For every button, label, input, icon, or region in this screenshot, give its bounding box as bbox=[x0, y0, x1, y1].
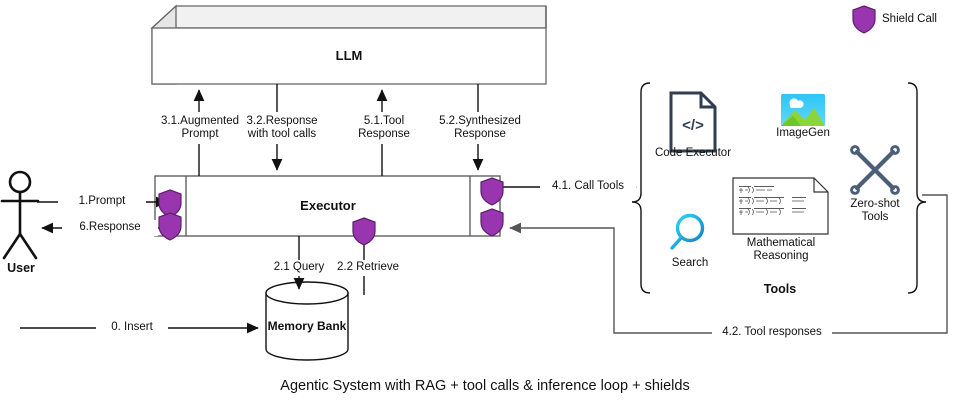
crossed-wrenches-icon bbox=[852, 147, 899, 194]
tools-group-label: Tools bbox=[730, 283, 830, 296]
image-picture-icon bbox=[781, 94, 825, 126]
diagram-caption: Agentic System with RAG + tool calls & i… bbox=[0, 378, 970, 394]
shield-icon-legend bbox=[853, 6, 875, 33]
legend-label: Shield Call bbox=[882, 13, 962, 26]
edge-label-response: 6.Response bbox=[62, 221, 158, 234]
user-label: User bbox=[0, 262, 47, 275]
shield-icon-executor-memory bbox=[353, 218, 375, 245]
edge-label-retrieve: 2.2 Retrieve bbox=[332, 261, 404, 274]
llm-node bbox=[152, 6, 546, 84]
llm-label: LLM bbox=[152, 49, 546, 62]
edge-label-tool-responses: 4.2. Tool responses bbox=[712, 326, 832, 339]
user-actor-icon bbox=[2, 172, 38, 258]
executor-label: Executor bbox=[186, 199, 470, 212]
edge-label-prompt: 1.Prompt bbox=[58, 195, 146, 208]
tool-label-zero-shot-tools: Zero-shotTools bbox=[840, 198, 910, 224]
edge-label-insert: 0. Insert bbox=[96, 321, 168, 334]
memory-bank-label: Memory Bank bbox=[255, 320, 359, 333]
edge-label-tool-response: 5.1.ToolResponse bbox=[344, 115, 424, 141]
tool-label-code-executor: Code Executor bbox=[643, 147, 743, 160]
code-document-icon: </> bbox=[671, 93, 715, 151]
diagram-canvas: </> bbox=[0, 0, 970, 411]
tool-label-mathematical-reasoning: MathematicalReasoning bbox=[733, 237, 829, 263]
edge-label-response-with-tool-calls: 3.2.Responsewith tool calls bbox=[230, 115, 334, 141]
svg-text:</>: </> bbox=[682, 117, 704, 134]
edge-label-synthesized-response: 5.2.SynthesizedResponse bbox=[426, 115, 534, 141]
magnifier-icon bbox=[672, 216, 703, 249]
math-document-icon bbox=[733, 178, 828, 234]
edge-label-query: 2.1 Query bbox=[268, 261, 330, 274]
edge-label-call-tools: 4.1. Call Tools bbox=[540, 180, 636, 193]
tool-label-imagegen: ImageGen bbox=[768, 127, 838, 140]
tool-label-search: Search bbox=[660, 257, 720, 270]
